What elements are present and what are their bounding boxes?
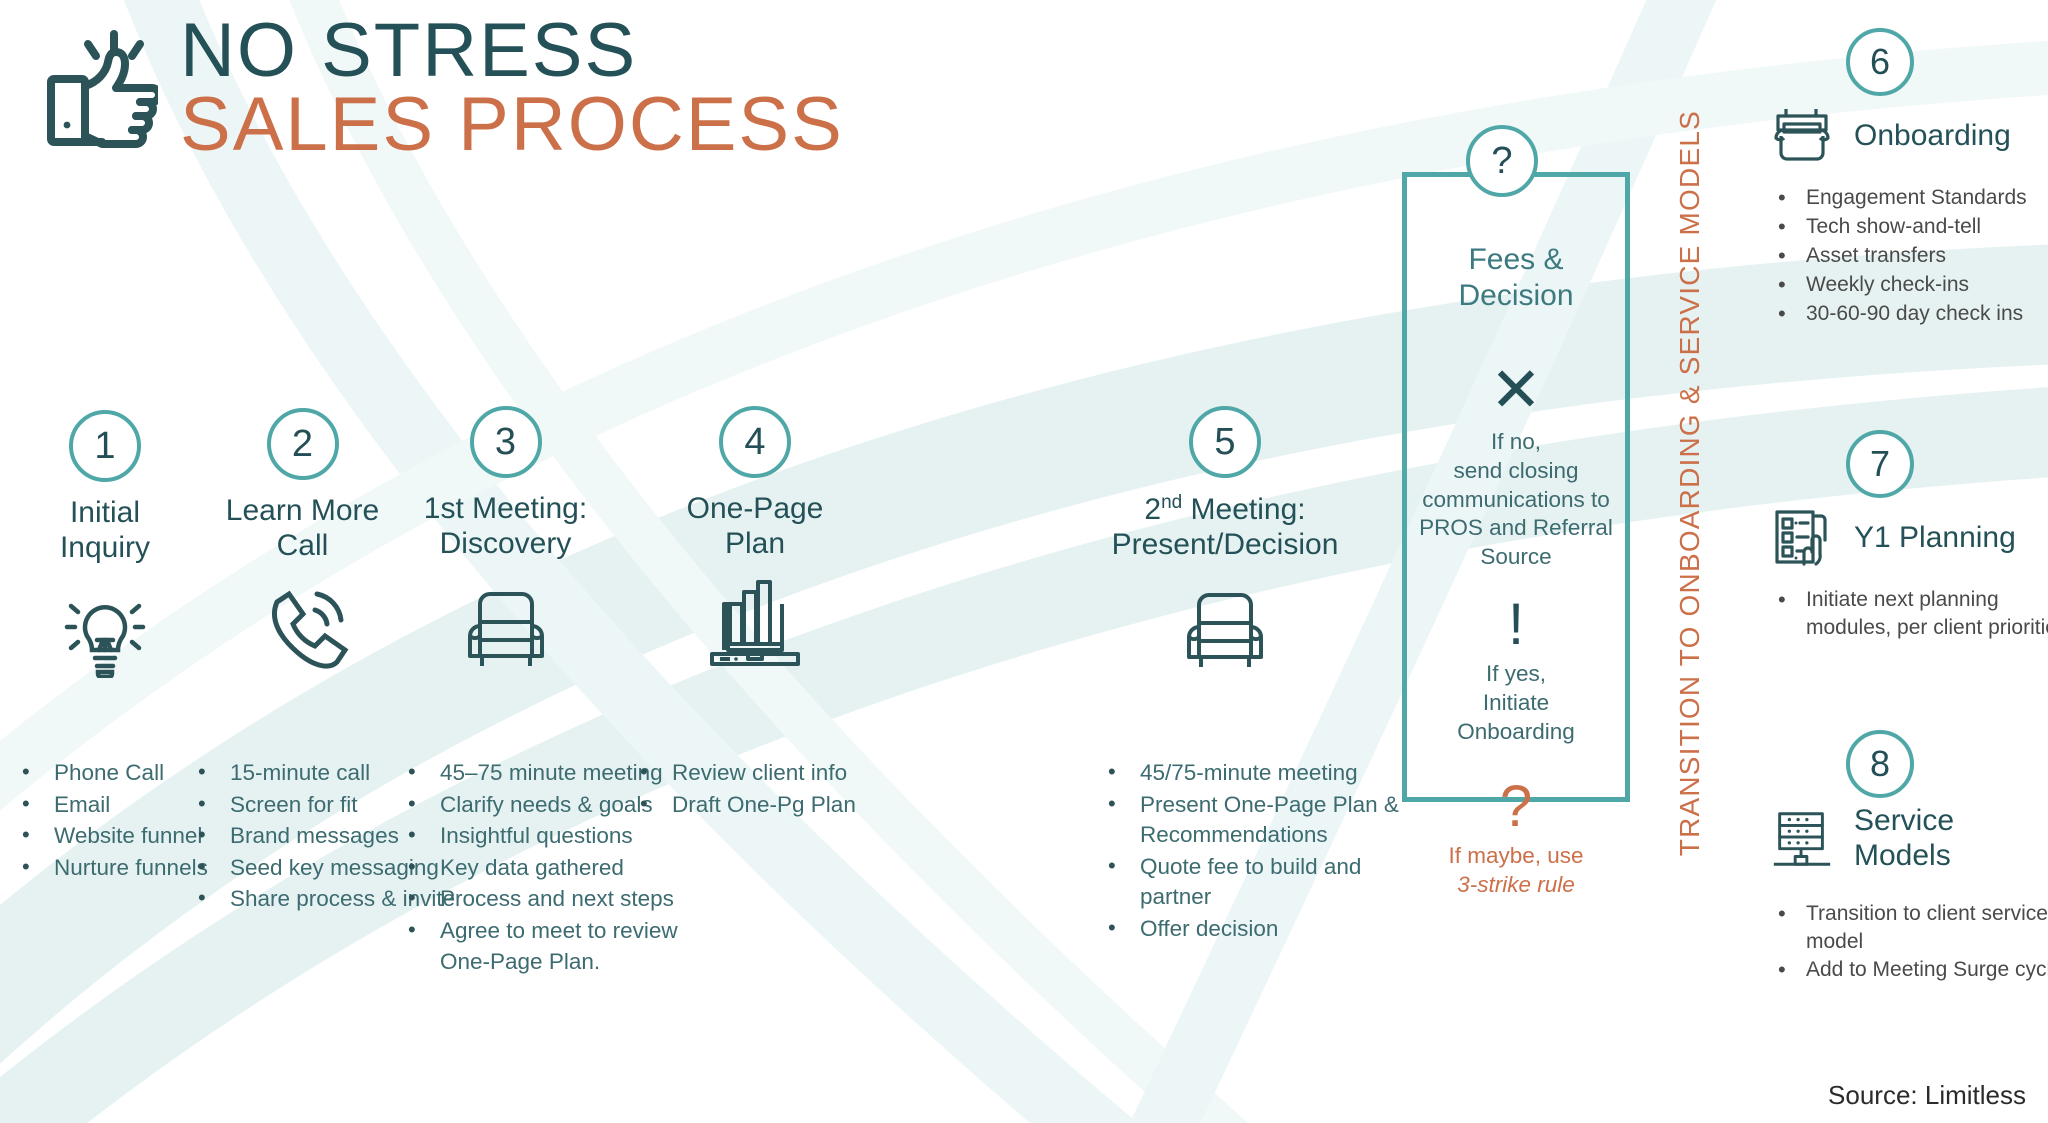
exclamation-icon: !: [1402, 596, 1630, 654]
checklist-hand-icon: [1768, 504, 1836, 572]
page-title-line2: SALES PROCESS: [180, 88, 844, 162]
step-title: 2nd Meeting: Present/Decision: [1112, 492, 1339, 563]
list-item: Key data gathered: [400, 853, 700, 884]
list-item: Draft One-Pg Plan: [632, 790, 912, 821]
list-item: 30-60-90 day check ins: [1768, 300, 2048, 328]
x-mark-icon: ✕: [1402, 360, 1630, 422]
step-number-badge: 3: [470, 406, 542, 478]
sofa-icon: [1768, 102, 1836, 170]
three-strike-rule: 3-strike rule: [1402, 871, 1630, 900]
fees-outcome-no: If no, send closing communications to PR…: [1402, 428, 1630, 572]
list-item: Insightful questions: [400, 821, 700, 852]
list-item: Present One-Page Plan & Recommendations: [1100, 790, 1400, 851]
armchair-icon: [1175, 579, 1275, 675]
step-6-bullets: Engagement Standards Tech show-and-tell …: [1768, 184, 2048, 328]
fees-outcome-yes: If yes, Initiate Onboarding: [1402, 660, 1630, 746]
step-8-bullets: Transition to client service model Add t…: [1768, 900, 2048, 985]
list-item: Initiate next planning modules, per clie…: [1768, 586, 2048, 642]
step-6[interactable]: 6 Onboarding Engagement Standards Tech s…: [1768, 28, 2048, 329]
step-title: Y1 Planning: [1854, 521, 2016, 556]
lightbulb-icon: [57, 582, 153, 678]
fees-decision-content: Fees & Decision ✕ If no, send closing co…: [1402, 172, 1630, 900]
step-number-badge: 7: [1846, 430, 1914, 498]
server-rack-icon: [1768, 805, 1836, 873]
list-item: Engagement Standards: [1768, 184, 2048, 212]
step-title: InitialInquiry: [60, 496, 150, 566]
fees-title: Fees & Decision: [1402, 242, 1630, 314]
step-title: Learn MoreCall: [226, 494, 379, 564]
list-item: Quote fee to build and partner: [1100, 852, 1400, 913]
step-4-bullets: Review client info Draft One-Pg Plan: [632, 758, 912, 821]
page-header: NO STRESS SALES PROCESS: [40, 14, 844, 161]
laptop-chart-icon: [700, 578, 810, 674]
step-4[interactable]: 4 One-PagePlan: [655, 406, 855, 674]
step-number-badge: 4: [719, 406, 791, 478]
list-item: Tech show-and-tell: [1768, 213, 2048, 241]
step-title: One-PagePlan: [687, 492, 824, 562]
phone-ringing-icon: [255, 580, 351, 676]
source-credit: Source: Limitless: [1828, 1080, 2026, 1111]
list-item: Offer decision: [1100, 914, 1400, 945]
transition-label: TRANSITION TO ONBOARDING & SERVICE MODEL…: [1660, 110, 1720, 990]
step-7-bullets: Initiate next planning modules, per clie…: [1768, 586, 2048, 642]
step-2[interactable]: 2 Learn MoreCall: [195, 408, 410, 676]
step-title: Service Models: [1854, 804, 1954, 874]
list-item: Agree to meet to review One-Page Plan.: [400, 916, 700, 977]
step-7[interactable]: 7 Y1 Planning Initiate next planning mod…: [1768, 430, 2048, 643]
step-8[interactable]: 8 Service Models: [1768, 730, 2048, 985]
list-item: Review client info: [632, 758, 912, 789]
step-3[interactable]: 3 1st Meeting:Discovery: [398, 406, 613, 674]
step-1[interactable]: 1 InitialInquiry: [0, 410, 210, 678]
list-item: Process and next steps: [400, 884, 700, 915]
list-item: Transition to client service model: [1768, 900, 2048, 956]
list-item: 45/75-minute meeting: [1100, 758, 1400, 789]
question-mark-icon: ?: [1402, 778, 1630, 836]
step-number-badge: 1: [69, 410, 141, 482]
list-item: Asset transfers: [1768, 242, 2048, 270]
list-item: Weekly check-ins: [1768, 271, 2048, 299]
step-title: 1st Meeting:Discovery: [424, 492, 587, 562]
step-title: Onboarding: [1854, 119, 2011, 154]
step-number-badge: 2: [267, 408, 339, 480]
thumbs-up-icon: [40, 24, 158, 152]
list-item: Add to Meeting Surge cycle: [1768, 956, 2048, 984]
armchair-icon: [456, 578, 556, 674]
step-number-badge: 6: [1846, 28, 1914, 96]
step-number-badge: 5: [1189, 406, 1261, 478]
step-5-bullets: 45/75-minute meeting Present One-Page Pl…: [1100, 758, 1400, 946]
fees-outcome-maybe: If maybe, use 3-strike rule: [1402, 842, 1630, 900]
page-title-line1: NO STRESS: [180, 14, 844, 88]
step-number-badge: 8: [1846, 730, 1914, 798]
